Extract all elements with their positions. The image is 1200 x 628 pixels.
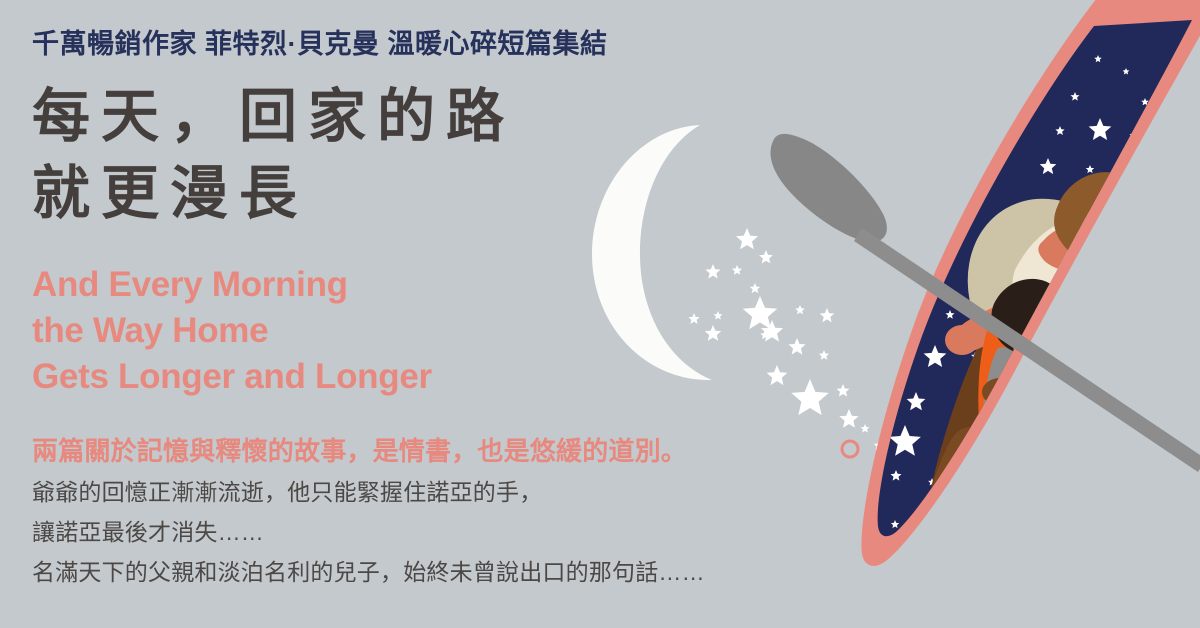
boot-left: [934, 427, 988, 494]
boat-occupants: [929, 166, 1179, 520]
boat-seat: [933, 166, 1178, 423]
child-jacket: [978, 316, 1050, 462]
canoe-hull: [861, 0, 1200, 566]
blurb-lead: 兩篇關於記憶與釋懷的故事，是情書，也是悠緩的道別。: [32, 430, 705, 472]
english-title-line-1: And Every Morning: [32, 262, 432, 308]
text-content-block: 千萬暢銷作家 菲特烈·貝克曼 溫暖心碎短篇集結 每天，回家的路 就更漫長 And…: [32, 0, 912, 628]
adult-arm: [951, 300, 1014, 352]
page-title: 每天，回家的路 就更漫長: [32, 78, 515, 232]
adult-hand-2: [1026, 395, 1062, 425]
title-line-2: 就更漫長: [32, 155, 515, 232]
blurb-line-2: 讓諾亞最後才消失……: [32, 512, 705, 552]
adult-coat: [1013, 218, 1129, 319]
adult-neck: [1038, 223, 1118, 273]
boot-right: [976, 450, 1031, 521]
child-hair: [992, 279, 1068, 355]
blurb-line-1: 爺爺的回憶正漸漸流逝，他只能緊握住諾亞的手，: [32, 472, 705, 512]
title-line-1: 每天，回家的路: [32, 78, 515, 155]
interior-stars: [889, 55, 1175, 530]
english-title-line-3: Gets Longer and Longer: [32, 354, 432, 400]
english-title: And Every Morning the Way Home Gets Long…: [32, 262, 432, 401]
child-face: [1013, 337, 1046, 365]
knee-patch: [982, 378, 1018, 406]
tagline: 千萬暢銷作家 菲特烈·貝克曼 溫暖心碎短篇集結: [32, 28, 608, 60]
adult-hair: [1054, 172, 1150, 266]
english-title-line-2: the Way Home: [32, 308, 432, 354]
lap-blanket: [929, 300, 1050, 514]
book-promo-banner: 千萬暢銷作家 菲特烈·貝克曼 溫暖心碎短篇集結 每天，回家的路 就更漫長 And…: [0, 0, 1200, 628]
adult-hand: [945, 325, 979, 355]
blurb: 兩篇關於記憶與釋懷的故事，是情書，也是悠緩的道別。 爺爺的回憶正漸漸流逝，他只能…: [32, 430, 705, 592]
blurb-line-3: 名滿天下的父親和淡泊名利的兒子，始終未曾說出口的那句話……: [32, 552, 705, 592]
child-trousers: [980, 347, 1026, 467]
